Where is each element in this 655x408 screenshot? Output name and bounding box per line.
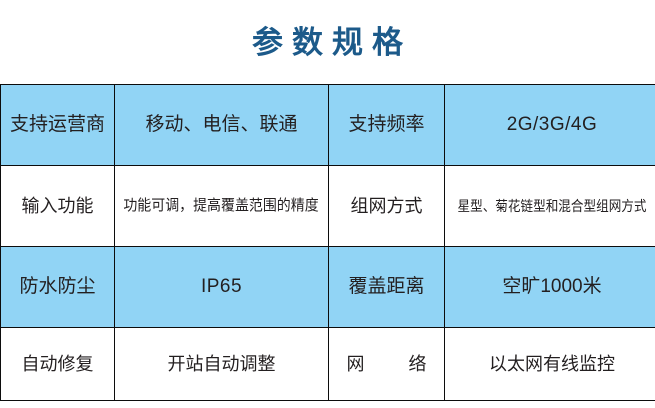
cell-content: 覆盖距离	[329, 276, 444, 298]
cell-text: 支持频率	[348, 114, 424, 136]
table-row: 支持运营商 移动、电信、联通 支持频率 2G/3G/4G	[1, 85, 655, 166]
cell-content: 移动、电信、联通	[115, 114, 328, 136]
cell-text: 2G/3G/4G	[507, 114, 598, 136]
cell-content: 2G/3G/4G	[445, 114, 655, 136]
cell-text: 星型、菊花链型和混合型组网方式	[458, 198, 647, 214]
page-title-area: 参数规格	[0, 0, 655, 84]
cell-content: 空旷1000米	[445, 276, 655, 298]
table-cell-value: IP65	[115, 247, 329, 328]
cell-text: 支持运营商	[10, 114, 105, 136]
cell-text: 移动、电信、联通	[145, 114, 297, 136]
table-cell-value: 空旷1000米	[445, 247, 655, 328]
cell-content: IP65	[115, 276, 328, 298]
table-cell-label: 自动修复	[1, 328, 115, 401]
cell-content: 网络	[329, 354, 444, 375]
cell-content: 开站自动调整	[115, 354, 328, 375]
cell-text: 网络	[329, 354, 445, 375]
table-cell-value: 以太网有线监控	[445, 328, 655, 401]
table-cell-value: 2G/3G/4G	[445, 85, 655, 166]
cell-text: 组网方式	[351, 196, 423, 217]
cell-text: 输入功能	[22, 196, 94, 217]
page-title: 参数规格	[243, 27, 412, 58]
cell-content: 自动修复	[1, 354, 114, 375]
table-row: 输入功能 功能可调，提高覆盖范围的精度 组网方式 星型、菊花链型和混合型组网方式	[1, 166, 655, 247]
table-cell-value: 功能可调，提高覆盖范围的精度	[115, 166, 329, 247]
table-cell-label: 防水防尘	[1, 247, 115, 328]
table-cell-label: 组网方式	[329, 166, 445, 247]
table-cell-value: 移动、电信、联通	[115, 85, 329, 166]
cell-content: 输入功能	[1, 196, 114, 217]
cell-text: 覆盖距离	[348, 276, 424, 298]
cell-content: 组网方式	[329, 196, 444, 217]
cell-content: 支持频率	[329, 114, 444, 136]
cell-content: 支持运营商	[1, 114, 114, 136]
spec-sheet-page: 参数规格 支持运营商 移动、电信、联通 支持频率	[0, 0, 655, 408]
cell-text: 开站自动调整	[168, 354, 276, 375]
table-cell-value: 星型、菊花链型和混合型组网方式	[445, 166, 655, 247]
cell-text: IP65	[201, 276, 242, 298]
cell-content: 以太网有线监控	[445, 354, 655, 375]
table-cell-label: 网络	[329, 328, 445, 401]
table-row: 自动修复 开站自动调整 网络 以太网有线监控	[1, 328, 655, 401]
cell-content: 星型、菊花链型和混合型组网方式	[445, 198, 655, 214]
cell-text: 防水防尘	[19, 276, 95, 298]
specification-table: 支持运营商 移动、电信、联通 支持频率 2G/3G/4G	[0, 84, 655, 401]
table-cell-label: 覆盖距离	[329, 247, 445, 328]
table-cell-label: 输入功能	[1, 166, 115, 247]
cell-content: 防水防尘	[1, 276, 114, 298]
table-row: 防水防尘 IP65 覆盖距离 空旷1000米	[1, 247, 655, 328]
cell-text: 空旷1000米	[502, 276, 601, 298]
cell-text: 以太网有线监控	[489, 354, 615, 375]
table-cell-label: 支持运营商	[1, 85, 115, 166]
cell-text: 功能可调，提高覆盖范围的精度	[124, 197, 319, 214]
table-cell-value: 开站自动调整	[115, 328, 329, 401]
cell-content: 功能可调，提高覆盖范围的精度	[115, 197, 328, 214]
cell-text: 自动修复	[22, 354, 94, 375]
table-cell-label: 支持频率	[329, 85, 445, 166]
